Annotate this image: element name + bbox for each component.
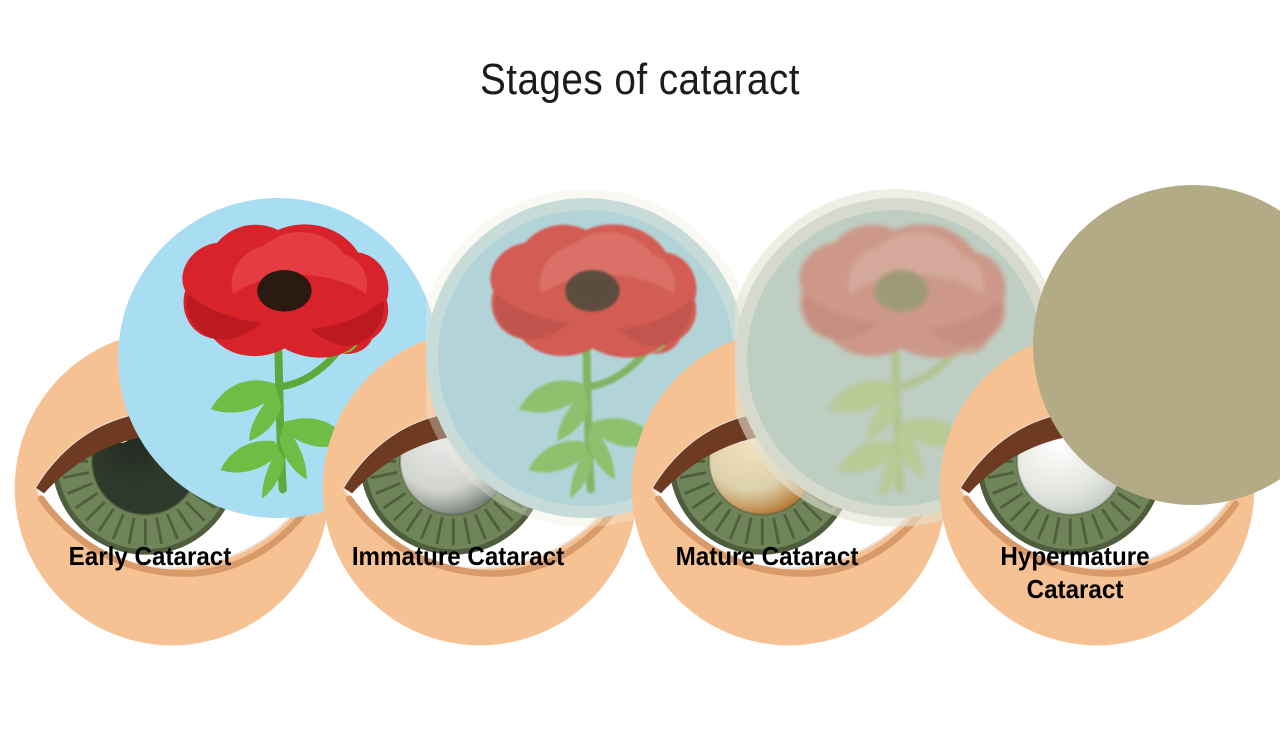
- stage-artwork: [607, 140, 927, 540]
- stage-label-hypermature-cataract: Hypermature Cataract: [926, 540, 1224, 606]
- stage-label-line: Early Cataract: [69, 541, 232, 571]
- vision-illustration-wrap: [1033, 145, 1233, 345]
- vision-illustration-wrap: [426, 158, 626, 358]
- opaque-vision-circle: [1033, 145, 1280, 545]
- stage-mature-cataract: Mature Cataract: [607, 140, 927, 660]
- vision-illustration-wrap: [118, 158, 318, 358]
- stage-label-line: Hypermature: [1000, 541, 1149, 571]
- vision-background: [1033, 185, 1280, 505]
- stage-label-line: Cataract: [926, 573, 1224, 606]
- page-title: Stages of cataract: [77, 55, 1203, 105]
- stage-early-cataract: Early Cataract: [0, 140, 310, 660]
- stage-artwork: [915, 140, 1235, 540]
- stage-hypermature-cataract: Hypermature Cataract: [915, 140, 1235, 660]
- cataract-stages-infographic: Stages of cataract: [0, 0, 1280, 730]
- stage-label-early-cataract: Early Cataract: [1, 540, 299, 573]
- stage-label-immature-cataract: Immature Cataract: [309, 540, 607, 573]
- stage-artwork: [0, 140, 310, 540]
- stage-artwork: [298, 140, 618, 540]
- stage-label-line: Mature Cataract: [676, 541, 859, 571]
- stage-immature-cataract: Immature Cataract: [298, 140, 618, 660]
- vision-illustration-wrap: [735, 158, 935, 358]
- stage-label-mature-cataract: Mature Cataract: [618, 540, 916, 573]
- stage-label-line: Immature Cataract: [352, 541, 564, 571]
